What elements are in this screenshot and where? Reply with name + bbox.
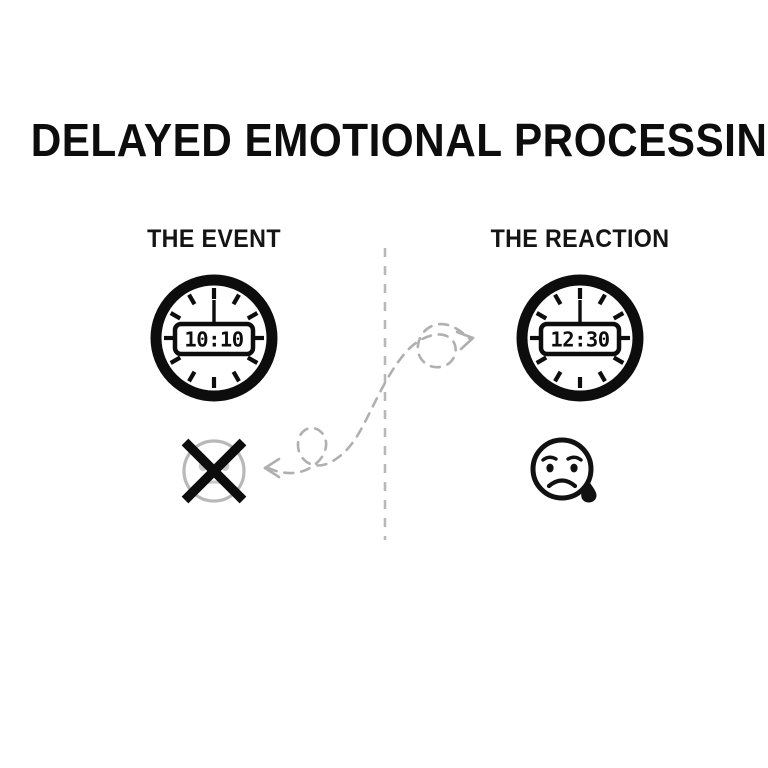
sad-face-svg: [527, 434, 601, 508]
page-title: DELAYED EMOTIONAL PROCESSING: [31, 113, 738, 167]
suppressed-face-icon: [177, 434, 251, 508]
panel-label-event: THE EVENT: [75, 225, 354, 254]
arrowhead-right-icon: [457, 332, 473, 349]
face-eye-right: [570, 464, 577, 473]
clock-icon-reaction: 12:30: [514, 272, 646, 404]
digital-display-time-event: 10:10: [184, 328, 243, 352]
clock-right-svg: 12:30: [514, 272, 646, 404]
digital-display-time-reaction: 12:30: [550, 328, 609, 352]
sad-face-icon: [527, 434, 601, 508]
clock-left-svg: 10:10: [148, 272, 280, 404]
crossed-out-face-svg: [177, 434, 251, 508]
looping-arrow-icon: [268, 324, 470, 473]
infographic-canvas: DELAYED EMOTIONAL PROCESSING THE EVENT T…: [0, 0, 768, 768]
face-eye-left: [546, 464, 553, 473]
face-outline: [533, 440, 591, 498]
clock-icon-event: 10:10: [148, 272, 280, 404]
panel-label-reaction: THE REACTION: [441, 225, 720, 254]
arrowhead-left-icon: [265, 459, 279, 477]
